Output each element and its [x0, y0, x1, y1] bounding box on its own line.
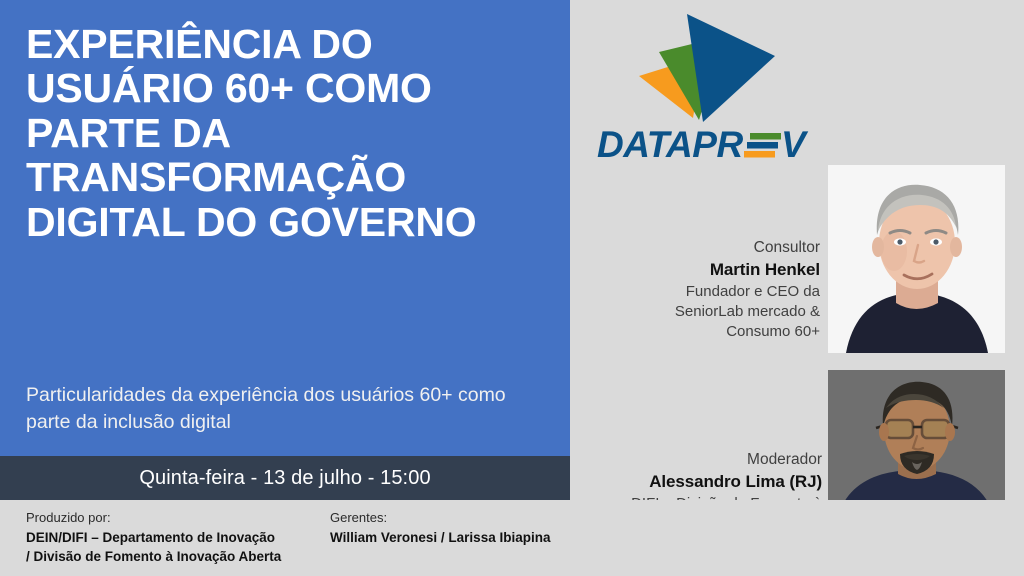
speaker-info-1: Consultor Martin Henkel Fundador e CEO d…: [598, 238, 820, 342]
speaker-org-line: SeniorLab mercado &: [598, 302, 820, 322]
dataprev-triangles-icon: [637, 12, 777, 124]
dataprev-wordmark: DATAPR V: [595, 124, 820, 166]
svg-text:V: V: [781, 124, 809, 165]
page-title: EXPERIÊNCIA DO USUÁRIO 60+ COMO PARTE DA…: [26, 22, 548, 244]
produced-by-line-2: / Divisão de Fomento à Inovação Aberta: [26, 547, 326, 566]
speaker-role: Moderador: [588, 450, 822, 471]
title-block: EXPERIÊNCIA DO USUÁRIO 60+ COMO PARTE DA…: [26, 22, 548, 244]
martin-henkel-photo: [828, 165, 1005, 353]
managers-column: Gerentes: William Veronesi / Larissa Ibi…: [330, 508, 590, 547]
speaker-name: Alessandro Lima (RJ): [588, 471, 822, 494]
produced-by-line-1: DEIN/DIFI – Departamento de Inovação: [26, 528, 326, 547]
speaker-org-line: Consumo 60+: [598, 322, 820, 342]
footer-credits: Produzido por: DEIN/DIFI – Departamento …: [0, 500, 1024, 576]
produced-by-label: Produzido por:: [26, 508, 326, 528]
managers-label: Gerentes:: [330, 508, 590, 528]
title-panel: EXPERIÊNCIA DO USUÁRIO 60+ COMO PARTE DA…: [0, 0, 570, 456]
event-poster: EXPERIÊNCIA DO USUÁRIO 60+ COMO PARTE DA…: [0, 0, 1024, 576]
date-text: Quinta-feira - 13 de julho - 15:00: [139, 467, 430, 490]
speaker-role: Consultor: [598, 238, 820, 259]
dataprev-logo: DATAPR V: [595, 12, 820, 167]
produced-by-column: Produzido por: DEIN/DIFI – Departamento …: [26, 508, 326, 566]
managers-value: William Veronesi / Larissa Ibiapina: [330, 528, 590, 547]
speaker-org-line: Fundador e CEO da: [598, 282, 820, 302]
speaker-name: Martin Henkel: [598, 259, 820, 282]
page-subtitle: Particularidades da experiência dos usuá…: [26, 382, 546, 437]
date-bar: Quinta-feira - 13 de julho - 15:00: [0, 456, 570, 500]
svg-text:DATAPR: DATAPR: [597, 124, 743, 165]
